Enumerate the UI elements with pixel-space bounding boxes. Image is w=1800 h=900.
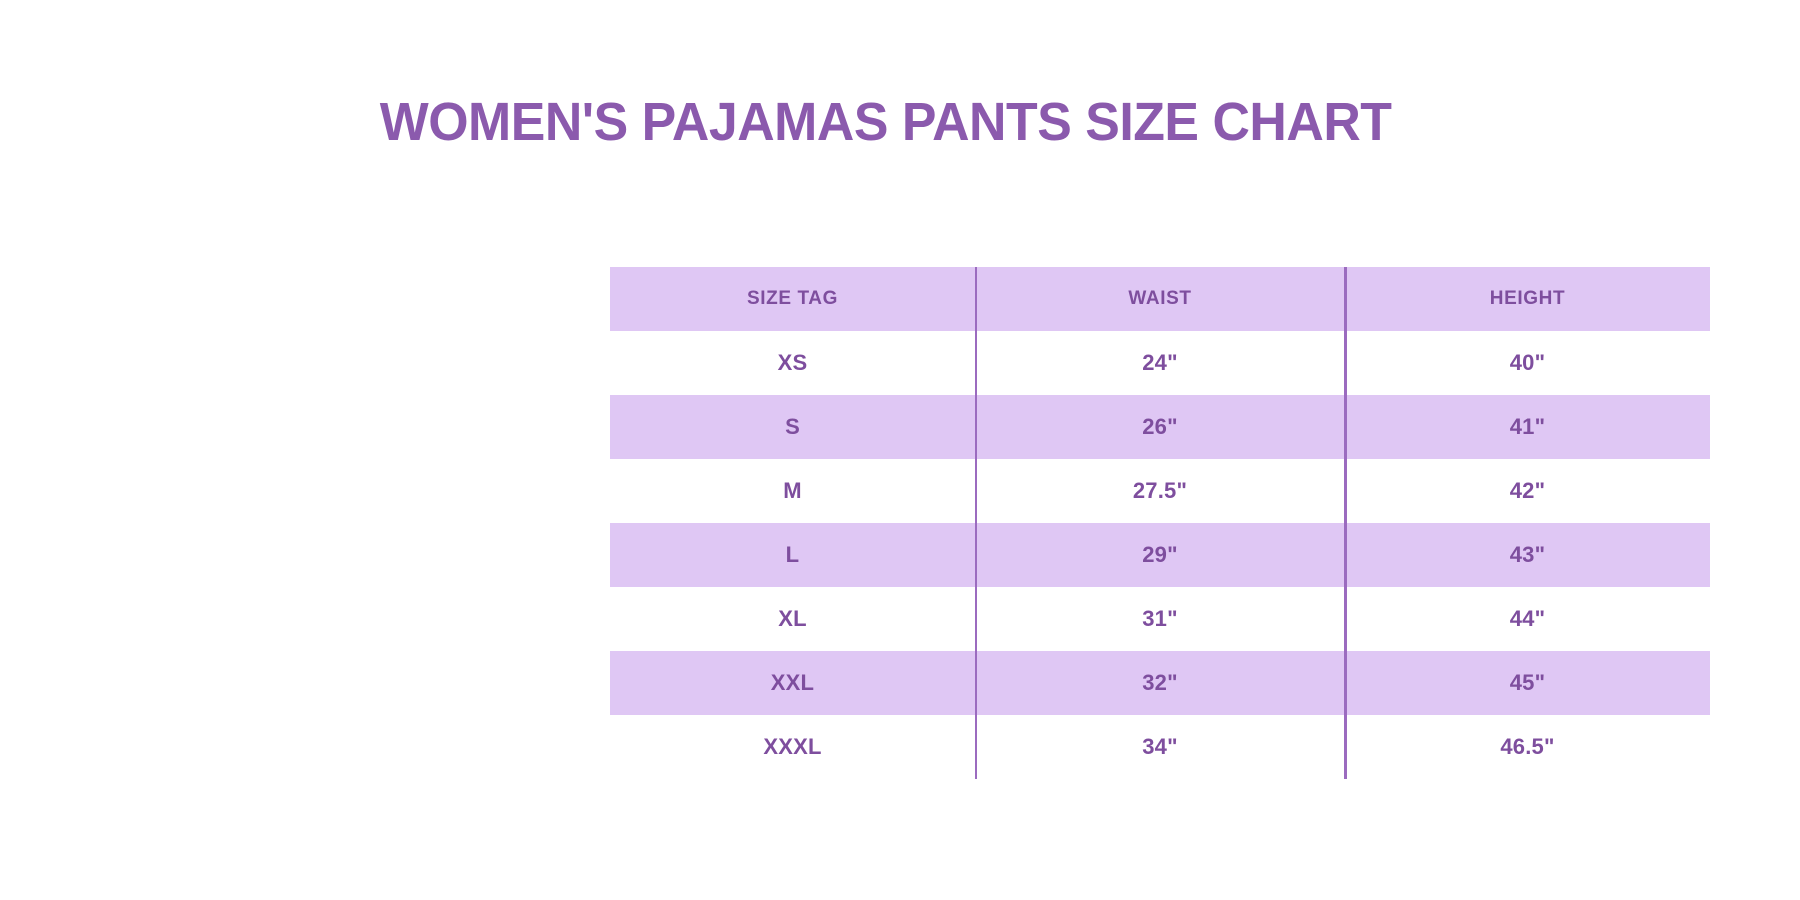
table-row: XXL 32" 45" xyxy=(610,651,1710,715)
cell-height: 44" xyxy=(1345,587,1710,651)
cell-waist: 29" xyxy=(975,523,1345,587)
table-row: L 29" 43" xyxy=(610,523,1710,587)
cell-size-tag: XXXL xyxy=(610,715,975,779)
table-row: XL 31" 44" xyxy=(610,587,1710,651)
size-chart-table: SIZE TAG WAIST HEIGHT XS 24" 40" S 26" 4… xyxy=(610,267,1710,779)
table-header: SIZE TAG WAIST HEIGHT xyxy=(610,267,1710,331)
table-header-row: SIZE TAG WAIST HEIGHT xyxy=(610,267,1710,331)
table-body: XS 24" 40" S 26" 41" M 27.5" 42" L 29" xyxy=(610,331,1710,779)
cell-waist: 26" xyxy=(975,395,1345,459)
column-header-size-tag: SIZE TAG xyxy=(610,267,975,331)
size-chart-page: WOMEN'S PAJAMAS PANTS SIZE CHART SIZE TA… xyxy=(0,0,1800,900)
cell-height: 45" xyxy=(1345,651,1710,715)
table-row: XS 24" 40" xyxy=(610,331,1710,395)
cell-waist: 31" xyxy=(975,587,1345,651)
cell-waist: 34" xyxy=(975,715,1345,779)
cell-height: 42" xyxy=(1345,459,1710,523)
cell-waist: 24" xyxy=(975,331,1345,395)
cell-height: 43" xyxy=(1345,523,1710,587)
cell-height: 40" xyxy=(1345,331,1710,395)
cell-size-tag: M xyxy=(610,459,975,523)
cell-height: 46.5" xyxy=(1345,715,1710,779)
cell-waist: 27.5" xyxy=(975,459,1345,523)
table-row: S 26" 41" xyxy=(610,395,1710,459)
cell-size-tag: XS xyxy=(610,331,975,395)
cell-size-tag: S xyxy=(610,395,975,459)
cell-size-tag: L xyxy=(610,523,975,587)
column-header-height: HEIGHT xyxy=(1345,267,1710,331)
cell-size-tag: XL xyxy=(610,587,975,651)
cell-size-tag: XXL xyxy=(610,651,975,715)
table-row: XXXL 34" 46.5" xyxy=(610,715,1710,779)
page-title: WOMEN'S PAJAMAS PANTS SIZE CHART xyxy=(36,92,1764,152)
table-row: M 27.5" 42" xyxy=(610,459,1710,523)
cell-height: 41" xyxy=(1345,395,1710,459)
cell-waist: 32" xyxy=(975,651,1345,715)
size-chart-table-container: SIZE TAG WAIST HEIGHT XS 24" 40" S 26" 4… xyxy=(610,267,1710,779)
column-header-waist: WAIST xyxy=(975,267,1345,331)
